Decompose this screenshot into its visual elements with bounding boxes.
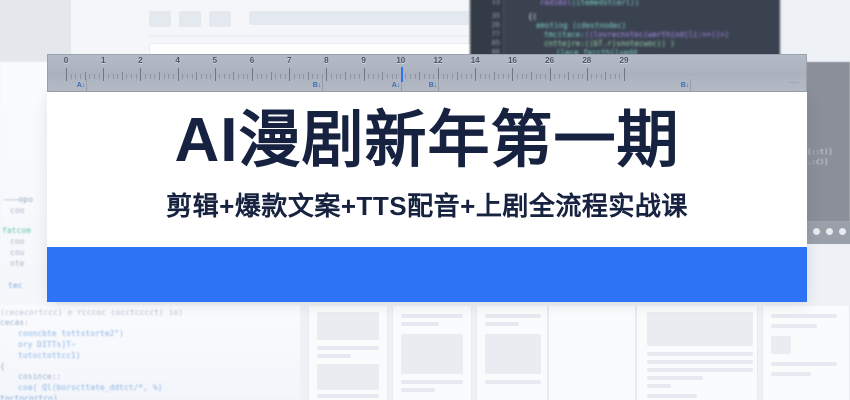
ruler-tab-stop[interactable]: A↓ bbox=[77, 82, 86, 90]
ruler-tick-minor bbox=[224, 74, 225, 79]
ruler-stop-mark bbox=[438, 79, 439, 91]
accent-bar bbox=[47, 247, 807, 302]
page-title: AI漫剧新年第一期 bbox=[47, 106, 807, 176]
ruler-tick-minor bbox=[531, 72, 532, 80]
ruler-tick-minor bbox=[340, 74, 341, 79]
ruler-tick-minor bbox=[619, 74, 620, 79]
ruler-tick-minor bbox=[210, 74, 211, 79]
ruler-tick-minor bbox=[164, 74, 165, 79]
wireframe-card bbox=[762, 306, 850, 400]
ruler-tick-major bbox=[624, 68, 625, 81]
ruler-tick-minor bbox=[392, 74, 393, 79]
ruler-tick-minor bbox=[540, 74, 541, 79]
ruler-tick-minor bbox=[601, 74, 602, 79]
ruler-tick-minor bbox=[480, 74, 481, 79]
ruler-tick-minor bbox=[294, 74, 295, 79]
ruler-tick-major bbox=[252, 68, 253, 81]
ruler-tick-minor bbox=[498, 74, 499, 79]
wireframe-card bbox=[476, 306, 548, 400]
ruler-tick-minor bbox=[526, 74, 527, 79]
ruler-tick-minor bbox=[517, 74, 518, 79]
ruler-tick-minor bbox=[206, 74, 207, 79]
ruler-tick-major bbox=[66, 68, 67, 81]
wireframe-card bbox=[392, 306, 472, 400]
ruler-tick-minor bbox=[187, 74, 188, 79]
ruler[interactable]: 01245678910121416262829 A↓B↓A↓B↓B↓ ⋮ bbox=[47, 54, 807, 92]
ruler-tick-minor bbox=[429, 74, 430, 79]
ruler-tick-minor bbox=[522, 74, 523, 79]
ruler-tick-major bbox=[215, 68, 216, 81]
ruler-tick-minor bbox=[461, 74, 462, 79]
ruler-tick-major bbox=[550, 68, 551, 81]
ruler-tick-minor bbox=[257, 74, 258, 79]
ruler-tick-minor bbox=[578, 74, 579, 79]
ruler-tick-minor bbox=[415, 74, 416, 79]
ruler-tick-minor bbox=[396, 74, 397, 79]
ruler-tick-minor bbox=[243, 74, 244, 79]
ruler-tick-minor bbox=[559, 74, 560, 79]
ruler-tick-minor bbox=[573, 74, 574, 79]
ruler-number: 4 bbox=[175, 56, 179, 66]
ruler-tick-major bbox=[178, 68, 179, 81]
ruler-tick-minor bbox=[275, 74, 276, 79]
ruler-tick-minor bbox=[605, 72, 606, 80]
ruler-tick-minor bbox=[94, 74, 95, 79]
ruler-number: 16 bbox=[508, 56, 517, 66]
ruler-tick-minor bbox=[99, 74, 100, 79]
ruler-tick-minor bbox=[457, 72, 458, 80]
ruler-tick-minor bbox=[238, 74, 239, 79]
ruler-tick-minor bbox=[331, 74, 332, 79]
ruler-tab-stop[interactable]: B↓ bbox=[681, 82, 690, 90]
ruler-stop-mark bbox=[322, 79, 323, 91]
ruler-tick-minor bbox=[336, 74, 337, 79]
ruler-tick-minor bbox=[368, 74, 369, 79]
ruler-tick-major bbox=[103, 68, 104, 81]
ruler-tick-major bbox=[512, 68, 513, 81]
ruler-tick-minor bbox=[433, 74, 434, 79]
ruler-tick-minor bbox=[354, 74, 355, 79]
ruler-tick-minor bbox=[168, 74, 169, 79]
ruler-tick-minor bbox=[285, 74, 286, 79]
ruler-tick-minor bbox=[615, 74, 616, 79]
ruler-tick-minor bbox=[131, 74, 132, 79]
ruler-number: 5 bbox=[213, 56, 217, 66]
ruler-tick-minor bbox=[75, 74, 76, 79]
ruler-number: 7 bbox=[287, 56, 291, 66]
window-dots-icon bbox=[813, 228, 846, 235]
ruler-number: 14 bbox=[471, 56, 480, 66]
ruler-tick-minor bbox=[159, 72, 160, 80]
ruler-stop-mark bbox=[690, 79, 691, 91]
ruler-tick-minor bbox=[150, 74, 151, 79]
ruler-tick-minor bbox=[424, 74, 425, 79]
ruler-number: 10 bbox=[396, 56, 405, 66]
background-code-editor-dark: 13 35 26 77 85 86 redimsl(itemedstcerl))… bbox=[470, 0, 780, 62]
ruler-number: 0 bbox=[64, 56, 68, 66]
ruler-tick-minor bbox=[229, 74, 230, 79]
ruler-tick-minor bbox=[192, 74, 193, 79]
ruler-tick-minor bbox=[317, 74, 318, 79]
ruler-number: 29 bbox=[620, 56, 629, 66]
ruler-tick-minor bbox=[108, 74, 109, 79]
ruler-number: 8 bbox=[324, 56, 328, 66]
ruler-tick-minor bbox=[122, 72, 123, 80]
poster-card: AI漫剧新年第一期 剪辑+爆款文案+TTS配音+上剧全流程实战课 bbox=[47, 92, 807, 302]
ruler-tick-minor bbox=[136, 74, 137, 79]
ruler-tick-minor bbox=[247, 74, 248, 79]
background-code-light-bottom: (cececortccc) o rcccoc cocctcccct( io) c… bbox=[0, 305, 300, 400]
ruler-tick-minor bbox=[610, 74, 611, 79]
ruler-tick-minor bbox=[117, 74, 118, 79]
ruler-tick-minor bbox=[280, 74, 281, 79]
ruler-tab-stop[interactable]: B↓ bbox=[313, 82, 322, 90]
ruler-tick-minor bbox=[80, 74, 81, 79]
ruler-stop-mark bbox=[86, 79, 87, 91]
ruler-number: 9 bbox=[361, 56, 365, 66]
ruler-tick-minor bbox=[196, 72, 197, 80]
ruler-tick-minor bbox=[582, 74, 583, 79]
ruler-number: 2 bbox=[138, 56, 142, 66]
ruler-tick-minor bbox=[568, 72, 569, 80]
ruler-tick-minor bbox=[419, 72, 420, 80]
wireframe-card bbox=[548, 306, 636, 400]
ruler-tick-minor bbox=[299, 74, 300, 79]
ruler-tick-minor bbox=[89, 74, 90, 79]
ruler-tick-major bbox=[326, 68, 327, 81]
background-left-panel bbox=[0, 0, 70, 62]
wireframe-card bbox=[636, 306, 758, 400]
ruler-tick-minor bbox=[489, 74, 490, 79]
ruler-tick-minor bbox=[387, 74, 388, 79]
ruler-tick-minor bbox=[182, 74, 183, 79]
ruler-tick-minor bbox=[71, 74, 72, 79]
ruler-tick-minor bbox=[345, 72, 346, 80]
ruler-tick-minor bbox=[154, 74, 155, 79]
ruler-number: 26 bbox=[545, 56, 554, 66]
ruler-tick-minor bbox=[564, 74, 565, 79]
ruler-tick-minor bbox=[145, 74, 146, 79]
ruler-tick-minor bbox=[591, 74, 592, 79]
ruler-tick-minor bbox=[303, 74, 304, 79]
ruler-tick-minor bbox=[378, 74, 379, 79]
ruler-tick-minor bbox=[261, 74, 262, 79]
ruler-overflow-icon[interactable]: ⋮ bbox=[789, 78, 798, 87]
ruler-tick-minor bbox=[350, 74, 351, 79]
ruler-tick-minor bbox=[405, 74, 406, 79]
wireframe-card bbox=[308, 306, 388, 400]
ruler-tick-minor bbox=[554, 74, 555, 79]
ruler-number: 28 bbox=[582, 56, 591, 66]
ruler-tick-major bbox=[289, 68, 290, 81]
ruler-tick-minor bbox=[466, 74, 467, 79]
ruler-tick-minor bbox=[596, 74, 597, 79]
page-subtitle: 剪辑+爆款文案+TTS配音+上剧全流程实战课 bbox=[47, 190, 807, 222]
ruler-tab-stop[interactable]: A↓ bbox=[392, 82, 401, 90]
ruler-tick-minor bbox=[443, 74, 444, 79]
ruler-tick-minor bbox=[471, 74, 472, 79]
ruler-tick-major bbox=[140, 68, 141, 81]
ruler-tick-major bbox=[475, 68, 476, 81]
ruler-tick-minor bbox=[359, 74, 360, 79]
ruler-tick-minor bbox=[266, 74, 267, 79]
ruler-tick-minor bbox=[312, 74, 313, 79]
ruler-tick-minor bbox=[382, 72, 383, 80]
ruler-cursor bbox=[401, 67, 403, 82]
ruler-tick-minor bbox=[271, 72, 272, 80]
ruler-number: 12 bbox=[434, 56, 443, 66]
ruler-tick-major bbox=[587, 68, 588, 81]
ruler-tick-minor bbox=[485, 74, 486, 79]
ruler-tick-minor bbox=[447, 74, 448, 79]
ruler-tick-minor bbox=[373, 74, 374, 79]
ruler-number: 6 bbox=[250, 56, 254, 66]
ruler-number: 1 bbox=[101, 56, 105, 66]
ruler-tick-minor bbox=[201, 74, 202, 79]
ruler-tick-minor bbox=[452, 74, 453, 79]
ruler-tick-minor bbox=[503, 74, 504, 79]
ruler-tick-minor bbox=[508, 74, 509, 79]
ruler-tick-minor bbox=[233, 72, 234, 80]
ruler-tick-minor bbox=[219, 74, 220, 79]
ruler-tick-minor bbox=[536, 74, 537, 79]
ruler-tick-minor bbox=[173, 74, 174, 79]
ruler-tick-minor bbox=[113, 74, 114, 79]
ruler-tick-major bbox=[364, 68, 365, 81]
ruler-tick-minor bbox=[126, 74, 127, 79]
ruler-tab-stop[interactable]: B↓ bbox=[429, 82, 438, 90]
ruler-tick-minor bbox=[410, 74, 411, 79]
ruler-tick-minor bbox=[545, 74, 546, 79]
ruler-tick-minor bbox=[308, 72, 309, 80]
ruler-tick-minor bbox=[494, 72, 495, 80]
